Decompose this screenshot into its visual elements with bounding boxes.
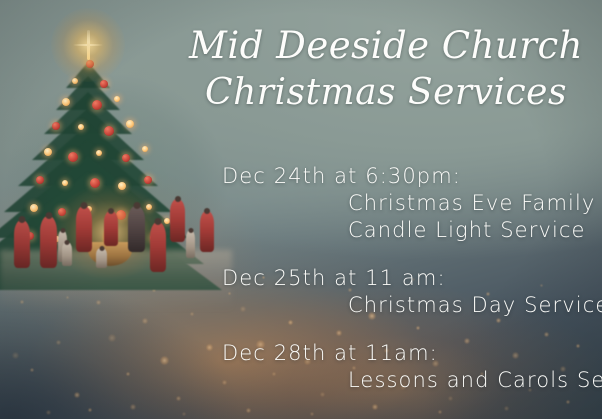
service-item-dec-24: Dec 24th at 6:30pm: Christmas Eve Family… [222,163,590,244]
service-name-line-1: Christmas Eve Family [222,190,590,217]
service-name-line-2: Candle Light Service [222,217,590,244]
service-datetime: Dec 24th at 6:30pm: [222,163,590,190]
service-name-line-1: Christmas Day Service [222,292,590,319]
service-item-dec-25: Dec 25th at 11 am: Christmas Day Service [222,265,590,319]
service-list: Dec 24th at 6:30pm: Christmas Eve Family… [222,163,590,394]
page-title-line-2: Christmas Services [186,69,586,116]
service-datetime: Dec 28th at 11am: [222,340,590,367]
service-name-line-1: Lessons and Carols Service [222,367,590,394]
page-title: Mid Deeside Church Christmas Services [186,22,586,116]
service-item-dec-28: Dec 28th at 11am: Lessons and Carols Ser… [222,340,590,394]
page-title-line-1: Mid Deeside Church [186,22,586,69]
christmas-services-poster: Mid Deeside Church Christmas Services De… [0,0,602,419]
service-datetime: Dec 25th at 11 am: [222,265,590,292]
